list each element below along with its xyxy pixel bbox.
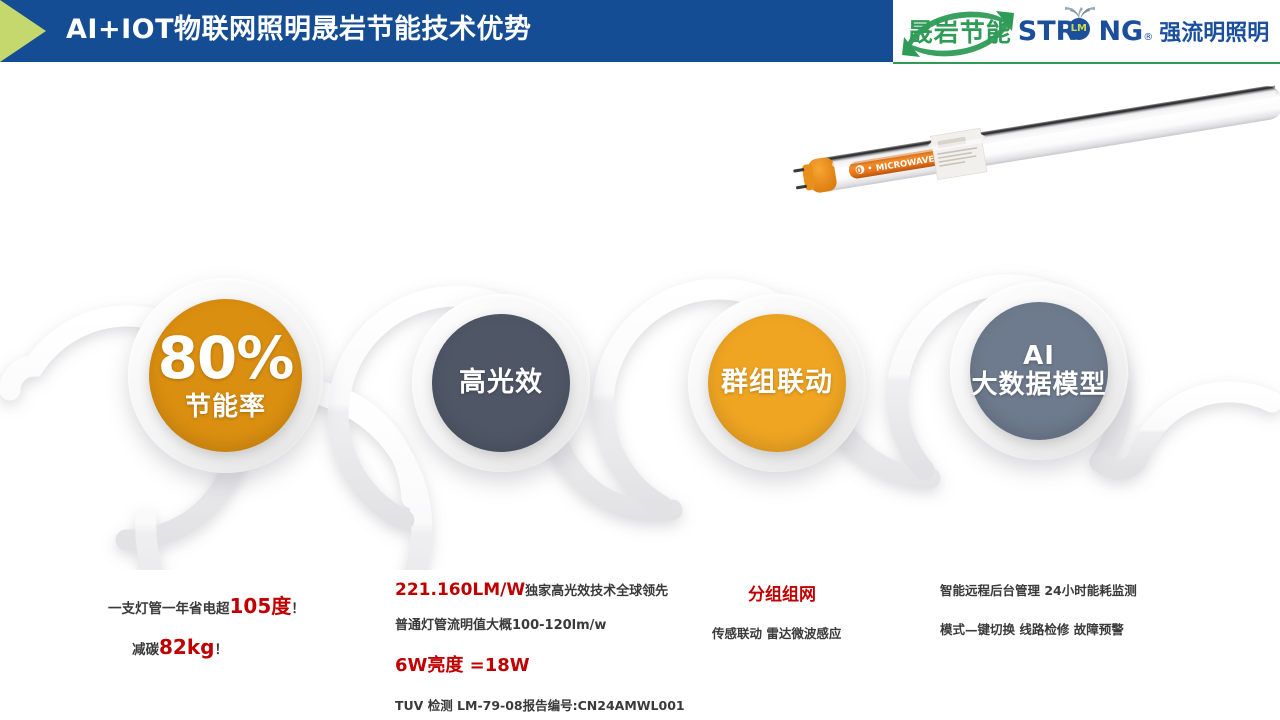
logo-brand-cn2: 强流明照明 xyxy=(1159,15,1269,47)
caption-3-line-1: 分组组网 xyxy=(748,580,841,605)
header-arrow-icon xyxy=(0,0,46,62)
node-core-3[interactable]: 群组联动 xyxy=(708,314,846,452)
caption-2-line-4: TUV 检测 LM-79-08报告编号:CN24AMWL001 xyxy=(395,695,685,714)
caption-2-line-3: 6W亮度 =18W xyxy=(395,651,685,677)
node-1-sublabel: 节能率 xyxy=(185,393,266,423)
node-core-1[interactable]: 80% 节能率 xyxy=(149,299,302,452)
led-tube-product-image: 0 MICROWAVE xyxy=(760,78,1280,208)
caption-1-line-1: 一支灯管一年省电超105度！ xyxy=(108,590,305,619)
node-4-value: AI xyxy=(1023,342,1055,371)
logo-strong-wordmark: STR LM NG ® xyxy=(1018,16,1153,47)
node-core-2[interactable]: 高光效 xyxy=(432,314,570,452)
caption-column-3: 分组组网 传感联动 雷达微波感应 xyxy=(748,580,841,642)
node-3-label: 群组联动 xyxy=(721,367,833,398)
caption-4-line-1: 智能远程后台管理 24小时能耗监测 xyxy=(940,580,1137,599)
logo-strong-tail: NG xyxy=(1098,16,1143,47)
node-core-4[interactable]: AI 大数据模型 xyxy=(970,302,1108,440)
caption-2-line-1: 221.160LM/W独家高光效技术全球领先 xyxy=(395,580,685,600)
brand-logo: 晟岩节能 STR LM NG ® 强流明照明 xyxy=(893,0,1280,64)
header-bar: AI+IOT物联网照明晟岩节能技术优势 xyxy=(0,0,893,62)
node-2-label: 高光效 xyxy=(459,367,543,398)
caption-3-line-2: 传感联动 雷达微波感应 xyxy=(712,623,841,642)
page-title: AI+IOT物联网照明晟岩节能技术优势 xyxy=(66,0,531,62)
logo-lm-badge: LM xyxy=(1068,18,1090,40)
caption-column-2: 221.160LM/W独家高光效技术全球领先 普通灯管流明值大概100-120l… xyxy=(395,580,685,714)
node-1-value: 80% xyxy=(158,329,294,387)
logo-registered-mark: ® xyxy=(1143,32,1153,43)
caption-4-line-2: 模式—键切换 线路检修 故障预警 xyxy=(940,619,1137,638)
caption-column-4: 智能远程后台管理 24小时能耗监测 模式—键切换 线路检修 故障预警 xyxy=(940,580,1137,638)
caption-2-line-2: 普通灯管流明值大概100-120lm/w xyxy=(395,614,685,633)
caption-1-line-2: 减碳82kg！ xyxy=(108,635,305,659)
node-4-sublabel: 大数据模型 xyxy=(971,371,1106,400)
logo-brand-cn: 晟岩节能 xyxy=(908,13,1012,49)
caption-column-1: 一支灯管一年省电超105度！ 减碳82kg！ xyxy=(108,590,305,659)
